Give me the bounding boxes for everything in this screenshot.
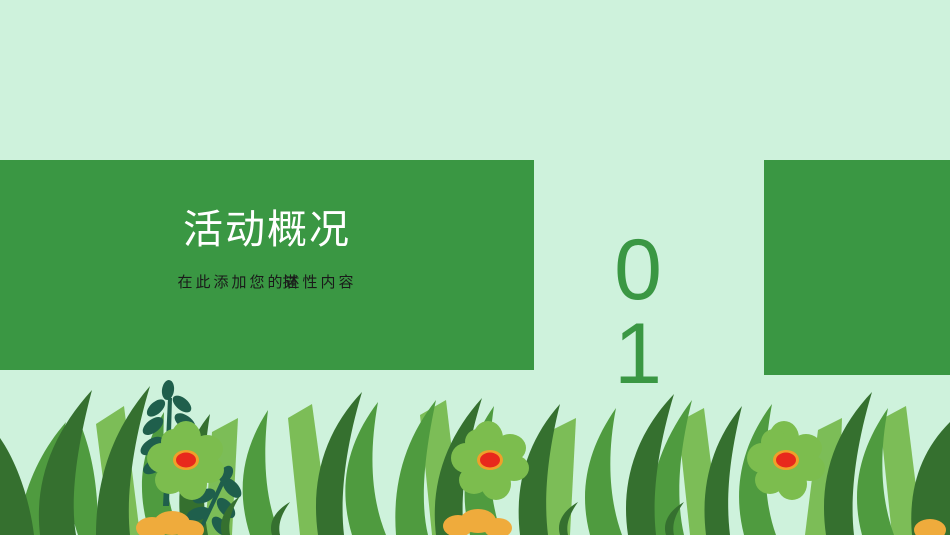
- flower-center: [176, 453, 196, 468]
- accent-banner-right: [764, 160, 950, 375]
- subtitle-lead: 在此添加您: [177, 274, 267, 291]
- grass-decoration: [0, 360, 950, 535]
- page-title: 活动概况: [0, 205, 534, 255]
- section-number: 0 1: [588, 228, 688, 397]
- slide-canvas: 活动概况 在此添加您的描述性内容 0 1: [0, 0, 950, 535]
- title-block: 活动概况 在此添加您的描述性内容: [0, 205, 534, 292]
- page-subtitle: 在此添加您的描述性内容: [177, 271, 356, 292]
- section-number-bottom-digit: 1: [588, 312, 688, 396]
- subtitle-overlap: 的描: [268, 271, 285, 292]
- flower-center: [776, 453, 796, 468]
- flower-center: [480, 453, 500, 468]
- subtitle-tail: 述性内容: [285, 274, 357, 291]
- section-number-top-digit: 0: [588, 228, 688, 312]
